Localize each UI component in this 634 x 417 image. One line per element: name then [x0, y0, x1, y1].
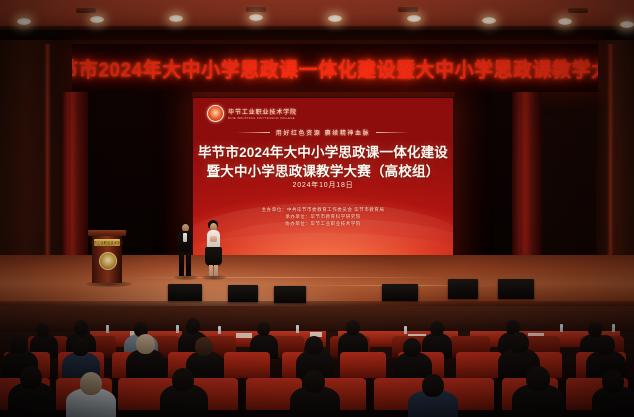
female-host-skirt [205, 247, 222, 266]
school-logo: 毕节工业职业技术学院 BIJIE INDUSTRIAL POLYTECHNIC … [207, 105, 297, 122]
podium-top [88, 230, 126, 236]
ceiling-spotlight [249, 14, 263, 21]
female-host [204, 220, 222, 278]
audience-head [596, 335, 615, 355]
house-back-wall [0, 306, 634, 332]
male-host [176, 222, 194, 278]
tagline-rule-right [376, 132, 410, 133]
auditorium-photo: 毕节市2024年大中小学思政课一体化建设暨大中小学思政课教学大赛 毕节工业职业技… [0, 0, 634, 417]
organizer-line: 协办单位：毕节工业职业技术学院 [193, 220, 453, 227]
male-host-leg [179, 252, 184, 276]
audience-head [10, 336, 27, 354]
male-host-leg [186, 252, 191, 276]
audience-head [257, 322, 270, 336]
ceiling-spotlight [90, 16, 104, 23]
slide-organizers: 主办单位：中共毕节市委教育工作委员会 毕节市教育局 承办单位：毕节市教育科学研究… [193, 206, 453, 228]
water-bottle [560, 324, 563, 332]
male-host-shirt [183, 233, 187, 242]
led-banner-text: 毕节市2024年大中小学思政课一体化建设暨大中小学思政课教学大赛 [72, 54, 598, 83]
school-emblem-icon [207, 105, 224, 122]
document-sheet [236, 333, 252, 338]
wall-pillar [44, 44, 51, 284]
audience-seat [456, 352, 502, 378]
podium-nameplate: 毕节工业职业技术学院 [94, 239, 120, 246]
audience-head [602, 370, 624, 393]
water-bottle [612, 324, 615, 332]
audience-head [305, 336, 323, 355]
slide-title: 毕节市2024年大中小学思政课一体化建设 暨大中小学思政课教学大赛（高校组） [193, 143, 453, 181]
stage-monitor [498, 279, 534, 299]
ceiling-light-fixture [568, 8, 588, 13]
slide-title-line-1: 毕节市2024年大中小学思政课一体化建设 [193, 143, 453, 162]
audience-head [74, 320, 88, 335]
audience-head [346, 320, 360, 335]
audience-head [588, 322, 602, 337]
stage-floor-seam [120, 277, 450, 278]
ceiling-spotlight [169, 15, 183, 22]
stage-monitor [382, 284, 418, 301]
female-host-hands [210, 236, 217, 242]
water-bottle [176, 325, 179, 333]
ceiling-spotlight [17, 18, 31, 25]
audience-seat [224, 352, 270, 378]
water-bottle [106, 325, 109, 333]
audience-seat [340, 352, 386, 378]
podium-emblem-icon [99, 252, 117, 270]
female-host-leg [214, 265, 218, 276]
audience-head [509, 332, 529, 353]
audience-head [526, 366, 550, 391]
school-name-cn: 毕节工业职业技术学院 [228, 107, 297, 116]
ceiling-spotlight [328, 15, 342, 22]
school-name-en: BIJIE INDUSTRIAL POLYTECHNIC COLLEGE [228, 117, 297, 120]
water-bottle [296, 325, 299, 333]
ceiling-light-fixture [76, 8, 96, 13]
wall-pillar [607, 44, 614, 284]
stage-monitor [274, 286, 306, 303]
audience-head [195, 337, 213, 356]
tagline-text: 用好红色资源 赓续精神血脉 [276, 128, 370, 137]
audience-head [303, 370, 325, 393]
ceiling-spotlight [482, 17, 496, 24]
stage-monitor [448, 279, 478, 299]
audience-head [36, 323, 49, 337]
audience-head [136, 334, 155, 354]
audience-head [72, 338, 89, 356]
ceiling-light-fixture [398, 7, 418, 12]
led-banner: 毕节市2024年大中小学思政课一体化建设暨大中小学思政课教学大赛 [72, 44, 598, 92]
school-logo-text: 毕节工业职业技术学院 BIJIE INDUSTRIAL POLYTECHNIC … [228, 107, 297, 120]
ceiling-spotlight [620, 21, 634, 28]
tagline-rule-left [236, 132, 270, 133]
audience-head [430, 321, 444, 336]
audience-head [80, 372, 102, 395]
audience-head [403, 338, 421, 357]
organizer-line: 承办单位：毕节市教育科学研究院 [193, 213, 453, 220]
ceiling-spotlight [558, 18, 572, 25]
podium-nameplate-text: 毕节工业职业技术学院 [94, 239, 120, 246]
ceiling-light-fixture [246, 7, 266, 12]
stage-monitor [168, 284, 202, 301]
audience-head [172, 368, 194, 391]
ceiling-spotlight [407, 15, 421, 22]
stage-monitor [228, 285, 258, 302]
audience-head [422, 374, 444, 397]
audience-head [20, 366, 42, 389]
water-bottle [218, 326, 221, 334]
organizer-line: 主办单位：中共毕节市委教育工作委员会 毕节市教育局 [193, 206, 453, 213]
female-host-leg [209, 265, 213, 276]
projection-screen: 毕节工业职业技术学院 BIJIE INDUSTRIAL POLYTECHNIC … [193, 98, 453, 257]
slide-title-line-2: 暨大中小学思政课教学大赛（高校组） [193, 162, 453, 181]
slide-tagline: 用好红色资源 赓续精神血脉 [193, 128, 453, 137]
water-bottle [404, 326, 407, 334]
audience-head [186, 318, 200, 334]
slide-date: 2024年10月18日 [193, 180, 453, 190]
